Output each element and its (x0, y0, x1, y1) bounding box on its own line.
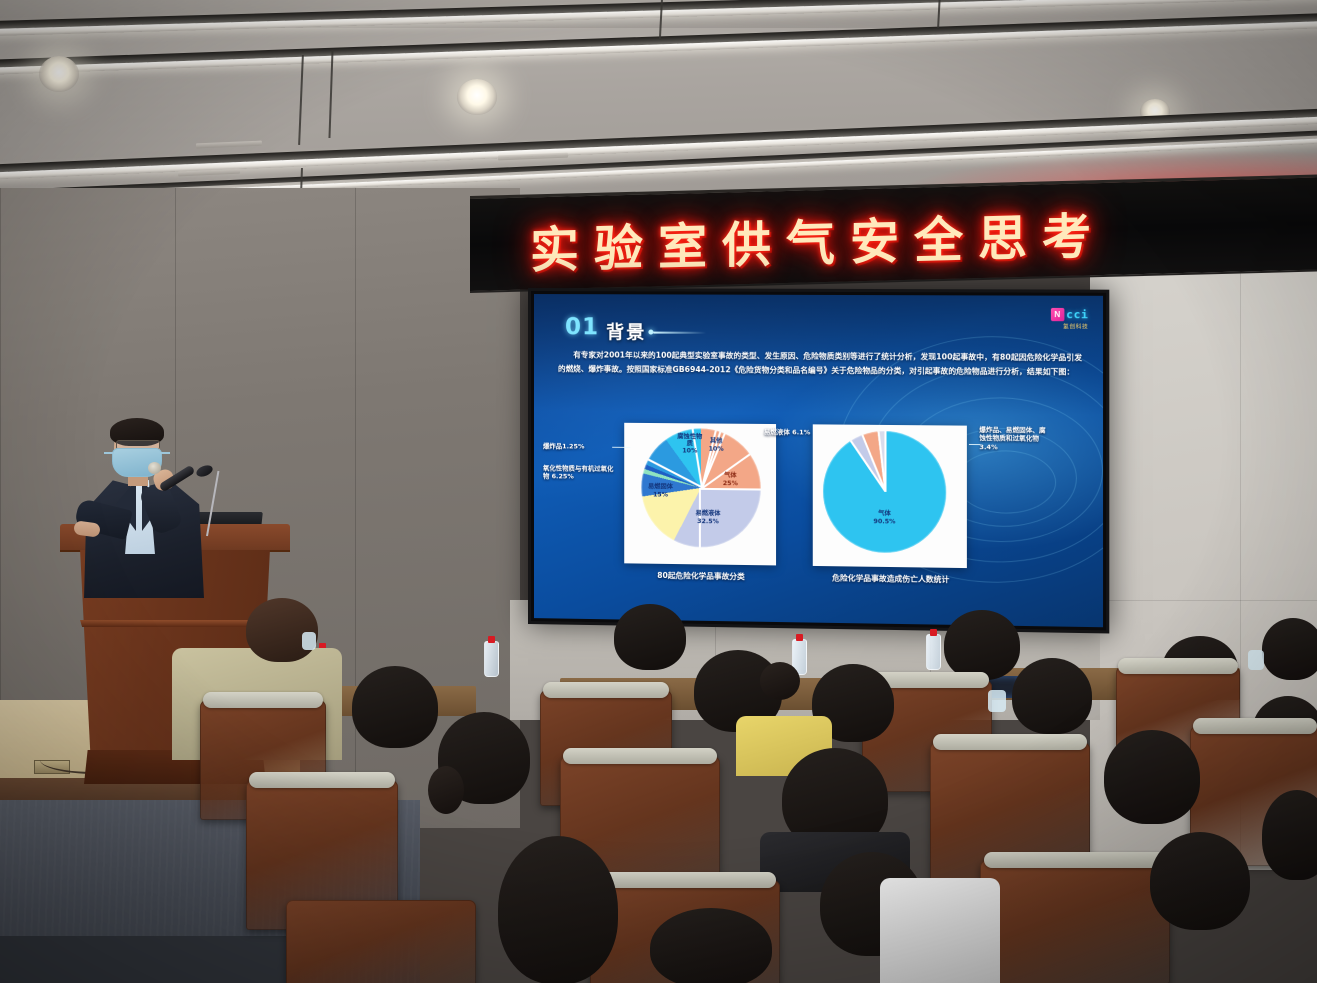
lecture-hall-photo: 实验室供气安全思考 01 背景 N cci 氢创科技 有专家对2001年以来的1… (0, 0, 1317, 983)
pie-right-callout-mixed: 爆炸品、易燃固体、腐蚀性物质和过氧化物 3.4% (979, 426, 1047, 452)
audience-member-head (498, 836, 618, 983)
logo-text: cci (1066, 308, 1088, 321)
auditorium-seat (286, 900, 476, 983)
headline-rule (653, 331, 706, 333)
led-banner-text: 实验室供气安全思考 (530, 197, 1106, 283)
audience-member-head (650, 908, 772, 983)
presentation-slide: 01 背景 N cci 氢创科技 有专家对2001年以来的100起典型实验室事故… (534, 294, 1103, 627)
presenter (76, 418, 226, 618)
auditorium-seat (980, 860, 1170, 983)
pie-left-callout-oxidizer: 氧化性物质与有机过氧化物 6.25% (543, 464, 617, 481)
pie-right-label-gas: 气体 90.5% (862, 510, 907, 526)
pie-right-title: 危险化学品事故造成伤亡人数统计 (803, 572, 980, 586)
audience-member-torso (880, 878, 1000, 983)
floor-shadow-strip (0, 936, 300, 983)
slide-section-title: 背景 (606, 318, 646, 344)
audience-hair-bun (760, 662, 800, 700)
audience-member-head (352, 666, 438, 748)
water-bottle (926, 634, 941, 670)
audience-member-head (1150, 832, 1250, 930)
ceiling-downlight-1 (39, 56, 79, 92)
pie-left-label-other: 其他 10% (703, 438, 729, 454)
audience-member-head (614, 604, 686, 670)
brand-logo: N cci (1051, 308, 1089, 321)
pie-chart-left: 气体 25% 易燃液体 32.5% 易燃固体 15% 其他 10% 腐蚀性物质 (624, 423, 776, 566)
ceiling-downlight-2 (457, 79, 497, 115)
logo-subtitle: 氢创科技 (1063, 322, 1088, 330)
projection-screen: 01 背景 N cci 氢创科技 有专家对2001年以来的100起典型实验室事故… (528, 288, 1109, 633)
audience-face-mask (302, 632, 316, 650)
audience-member-head (1012, 658, 1092, 734)
pie-right-callout-flammable-liquid: 易燃液体 6.1% (764, 428, 811, 437)
slide-body-text: 有专家对2001年以来的100起典型实验室事故的类型、发生原因、危险物质类别等进… (558, 348, 1082, 379)
logo-mark-icon: N (1051, 308, 1065, 321)
audience-hair-bun (428, 766, 464, 814)
audience-face-mask (1248, 650, 1264, 670)
pie-left-label-flammable-solid: 易燃固体 15% (640, 483, 680, 499)
microphone-head-icon (148, 462, 161, 474)
audience-member-head (1104, 730, 1200, 824)
pie-left-label-corrosive: 腐蚀性物质 10% (677, 433, 703, 455)
presenter-left-hand (73, 520, 101, 537)
pie-left-label-gas: 气体 25% (713, 472, 747, 488)
slide-section-number: 01 (565, 314, 599, 340)
pie-chart-right: 气体 90.5% (813, 424, 967, 568)
audience-member-head (1262, 618, 1317, 680)
audience-face-mask (988, 690, 1006, 712)
pie-left-label-flammable-liquid: 易燃液体 32.5% (687, 510, 730, 526)
audience-member-head (246, 598, 318, 662)
audience-member-head (944, 610, 1020, 680)
water-bottle (484, 641, 499, 677)
pie-left-title: 80起危险化学品事故分类 (620, 569, 782, 582)
